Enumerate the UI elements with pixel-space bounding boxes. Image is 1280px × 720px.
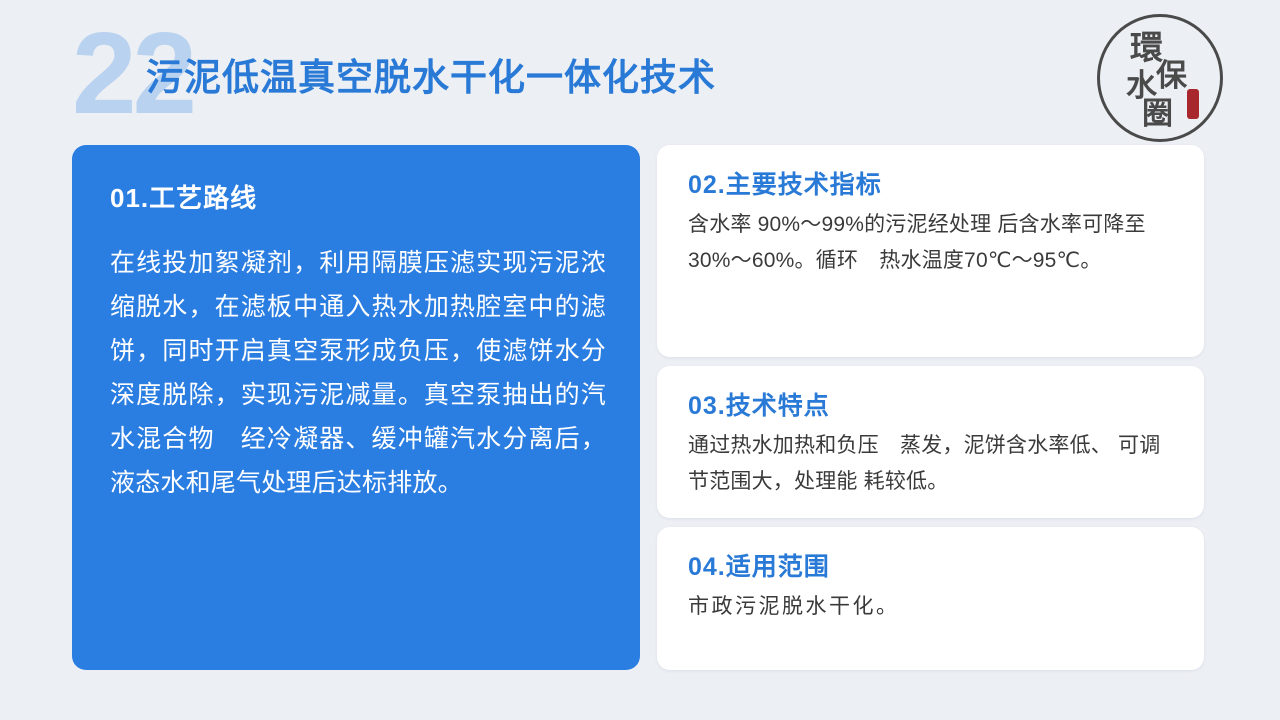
card-heading-03: 03.技术特点 xyxy=(688,386,1176,422)
round-stamp-logo: 環 保 水 圈 xyxy=(1097,14,1223,142)
slide-root: 22 污泥低温真空脱水干化一体化技术 環 保 水 圈 01.工艺路线 在线投加絮… xyxy=(0,0,1280,720)
card-key-indicators: 02.主要技术指标 含水率 90%～99%的污泥经处理 后含水率可降至 30%～… xyxy=(657,145,1204,357)
card-heading-04: 04.适用范围 xyxy=(688,547,1176,583)
right-card-column: 02.主要技术指标 含水率 90%～99%的污泥经处理 后含水率可降至 30%～… xyxy=(657,145,1204,670)
card-application-scope: 04.适用范围 市政污泥脱水干化。 xyxy=(657,527,1204,670)
card-process-route: 01.工艺路线 在线投加絮凝剂，利用隔膜压滤实现污泥浓缩脱水，在滤板中通入热水加… xyxy=(72,145,640,670)
card-body-02: 含水率 90%～99%的污泥经处理 后含水率可降至 30%～60%。循环 热水温… xyxy=(688,207,1176,279)
card-body-04: 市政污泥脱水干化。 xyxy=(688,589,1176,625)
card-technical-features: 03.技术特点 通过热水加热和负压 蒸发，泥饼含水率低、 可调节范围大，处理能 … xyxy=(657,366,1204,518)
stamp-char-quan: 圈 xyxy=(1142,99,1173,130)
card-heading-02: 02.主要技术指标 xyxy=(688,165,1176,201)
red-seal-icon xyxy=(1187,89,1199,119)
slide-header: 22 污泥低温真空脱水干化一体化技术 環 保 水 圈 xyxy=(0,0,1280,145)
stamp-char-bao: 保 xyxy=(1156,61,1187,92)
page-title: 污泥低温真空脱水干化一体化技术 xyxy=(146,58,716,99)
card-body-03: 通过热水加热和负压 蒸发，泥饼含水率低、 可调节范围大，处理能 耗较低。 xyxy=(688,428,1176,500)
card-body-01: 在线投加絮凝剂，利用隔膜压滤实现污泥浓缩脱水，在滤板中通入热水加热腔室中的滤饼，… xyxy=(110,241,606,505)
card-heading-01: 01.工艺路线 xyxy=(110,178,606,215)
